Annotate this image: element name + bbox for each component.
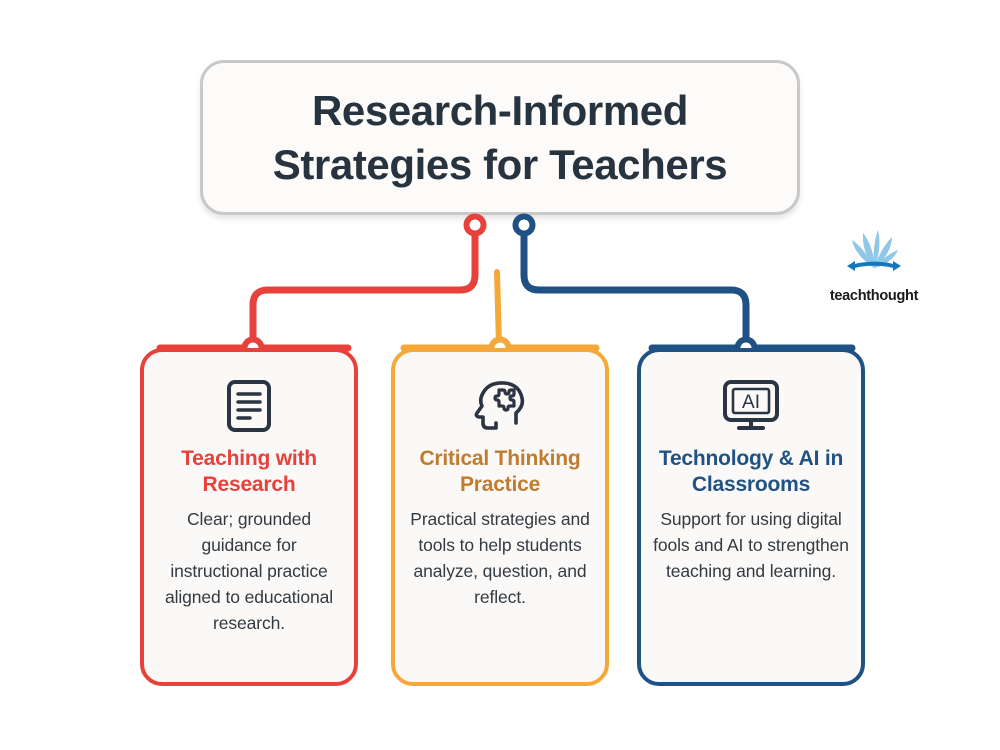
- connector-path-red: [253, 232, 475, 345]
- card-description: Clear; grounded guidance for instruction…: [156, 507, 342, 636]
- title-banner: Research-Informed Strategies for Teacher…: [200, 60, 800, 215]
- document-icon: [226, 378, 272, 434]
- connector-path-amber: [497, 272, 499, 345]
- ai-monitor-icon: AI: [722, 378, 780, 434]
- connector-path-blue: [524, 232, 746, 345]
- logo-wordmark: teachthought: [818, 288, 930, 304]
- card-description: Practical strategies and tools to help s…: [407, 507, 593, 611]
- teachthought-pages-icon: [838, 224, 910, 286]
- card-title: Teaching with Research: [156, 446, 342, 497]
- brain-head-icon: [472, 378, 528, 434]
- card-description: Support for using digital fools and AI t…: [653, 507, 849, 585]
- card-title: Technology & AI in Classrooms: [653, 446, 849, 497]
- connector-node-red-top: [467, 217, 484, 234]
- card-technology-ai-in-classrooms[interactable]: AI Technology & AI in Classrooms Support…: [637, 348, 865, 686]
- svg-text:AI: AI: [742, 392, 760, 413]
- teachthought-logo: teachthought: [818, 224, 930, 304]
- card-teaching-with-research[interactable]: Teaching with Research Clear; grounded g…: [140, 348, 358, 686]
- page-title: Research-Informed Strategies for Teacher…: [203, 84, 797, 192]
- card-critical-thinking-practice[interactable]: Critical Thinking Practice Practical str…: [391, 348, 609, 686]
- connector-node-blue-top: [516, 217, 533, 234]
- card-title: Critical Thinking Practice: [407, 446, 593, 497]
